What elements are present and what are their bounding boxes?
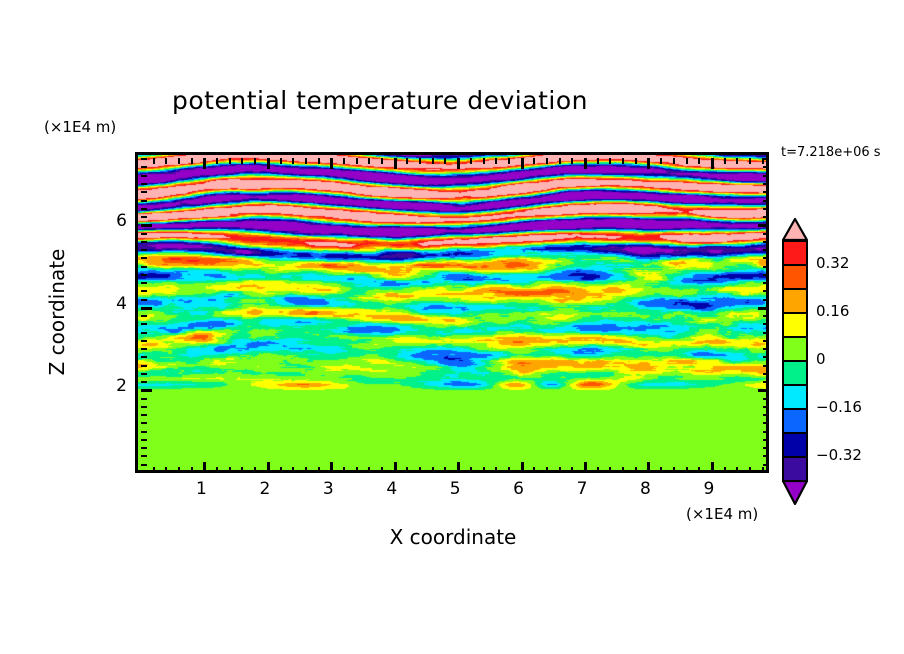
- y-tick-label: 4: [87, 294, 127, 314]
- colorbar-band: [782, 312, 808, 338]
- colorbar-band: [782, 408, 808, 434]
- y-tick-label: 2: [87, 376, 127, 396]
- colorbar-band: [782, 240, 808, 266]
- y-axis-unit-label: (×1E4 m): [44, 118, 116, 136]
- x-tick-label: 8: [625, 479, 665, 499]
- colorbar-tick-label: 0.16: [816, 302, 849, 320]
- x-tick-label: 1: [181, 479, 221, 499]
- x-tick-label: 5: [435, 479, 475, 499]
- x-tick-label: 2: [245, 479, 285, 499]
- colorbar-band: [782, 264, 808, 290]
- colorbar-band: [782, 336, 808, 362]
- x-axis-title: X coordinate: [273, 525, 633, 549]
- page-title: potential temperature deviation: [0, 86, 760, 115]
- colorbar-band: [782, 288, 808, 314]
- x-axis-unit-label: (×1E4 m): [686, 505, 758, 523]
- time-annotation: t=7.218e+06 s: [781, 145, 881, 160]
- figure-root: potential temperature deviation (×1E4 m)…: [0, 0, 904, 654]
- x-tick-label: 4: [372, 479, 412, 499]
- x-tick-label: 3: [308, 479, 348, 499]
- temperature-deviation-field: [138, 155, 766, 470]
- x-tick-label: 9: [689, 479, 729, 499]
- colorbar-tick-label: −0.32: [816, 446, 862, 464]
- colorbar-over-arrow: [782, 218, 808, 240]
- colorbar-band: [782, 360, 808, 386]
- colorbar-band: [782, 384, 808, 410]
- y-axis-title: Z coordinate: [45, 222, 69, 402]
- y-tick-label: 6: [87, 211, 127, 231]
- x-tick-label: 7: [562, 479, 602, 499]
- colorbar: [782, 218, 808, 502]
- colorbar-under-arrow: [782, 481, 808, 505]
- colorbar-tick-label: 0: [816, 350, 826, 368]
- colorbar-tick-label: −0.16: [816, 398, 862, 416]
- colorbar-band: [782, 456, 808, 482]
- contour-plot-area: [135, 152, 769, 473]
- x-tick-label: 6: [499, 479, 539, 499]
- colorbar-band: [782, 432, 808, 458]
- colorbar-tick-label: 0.32: [816, 254, 849, 272]
